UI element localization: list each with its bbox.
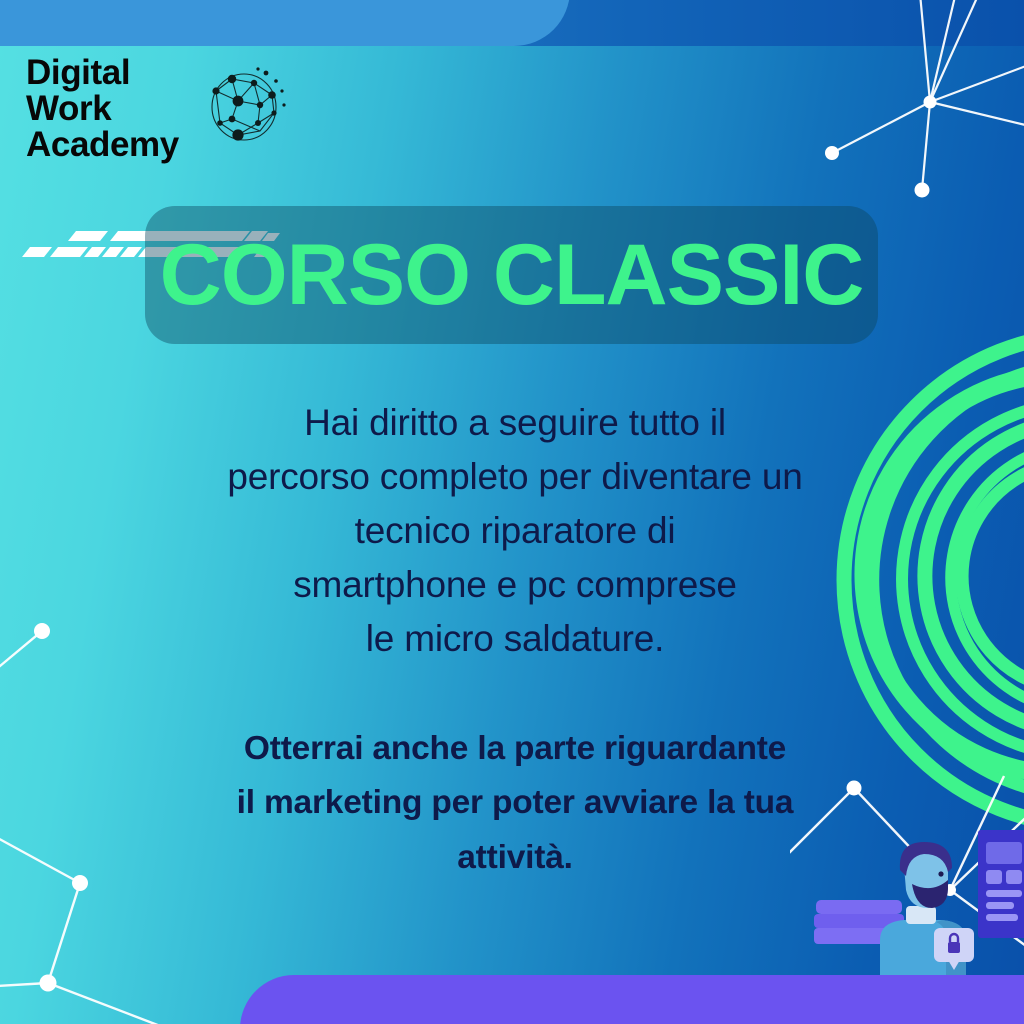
course-title-panel: CORSO CLASSIC bbox=[145, 206, 878, 344]
top-bar-left bbox=[0, 0, 570, 46]
constellation-hub-decoration bbox=[780, 0, 1024, 240]
poster-canvas: Digital Work Academy bbox=[0, 0, 1024, 1024]
person-at-computer-illustration bbox=[812, 828, 1024, 980]
network-globe-icon bbox=[202, 61, 290, 153]
brand-logo: Digital Work Academy bbox=[26, 55, 286, 163]
constellation-nodes-decoration bbox=[0, 590, 250, 1024]
monitor-icon bbox=[978, 830, 1024, 938]
page-title: CORSO CLASSIC bbox=[160, 232, 864, 318]
bottom-purple-band bbox=[240, 975, 1024, 1024]
